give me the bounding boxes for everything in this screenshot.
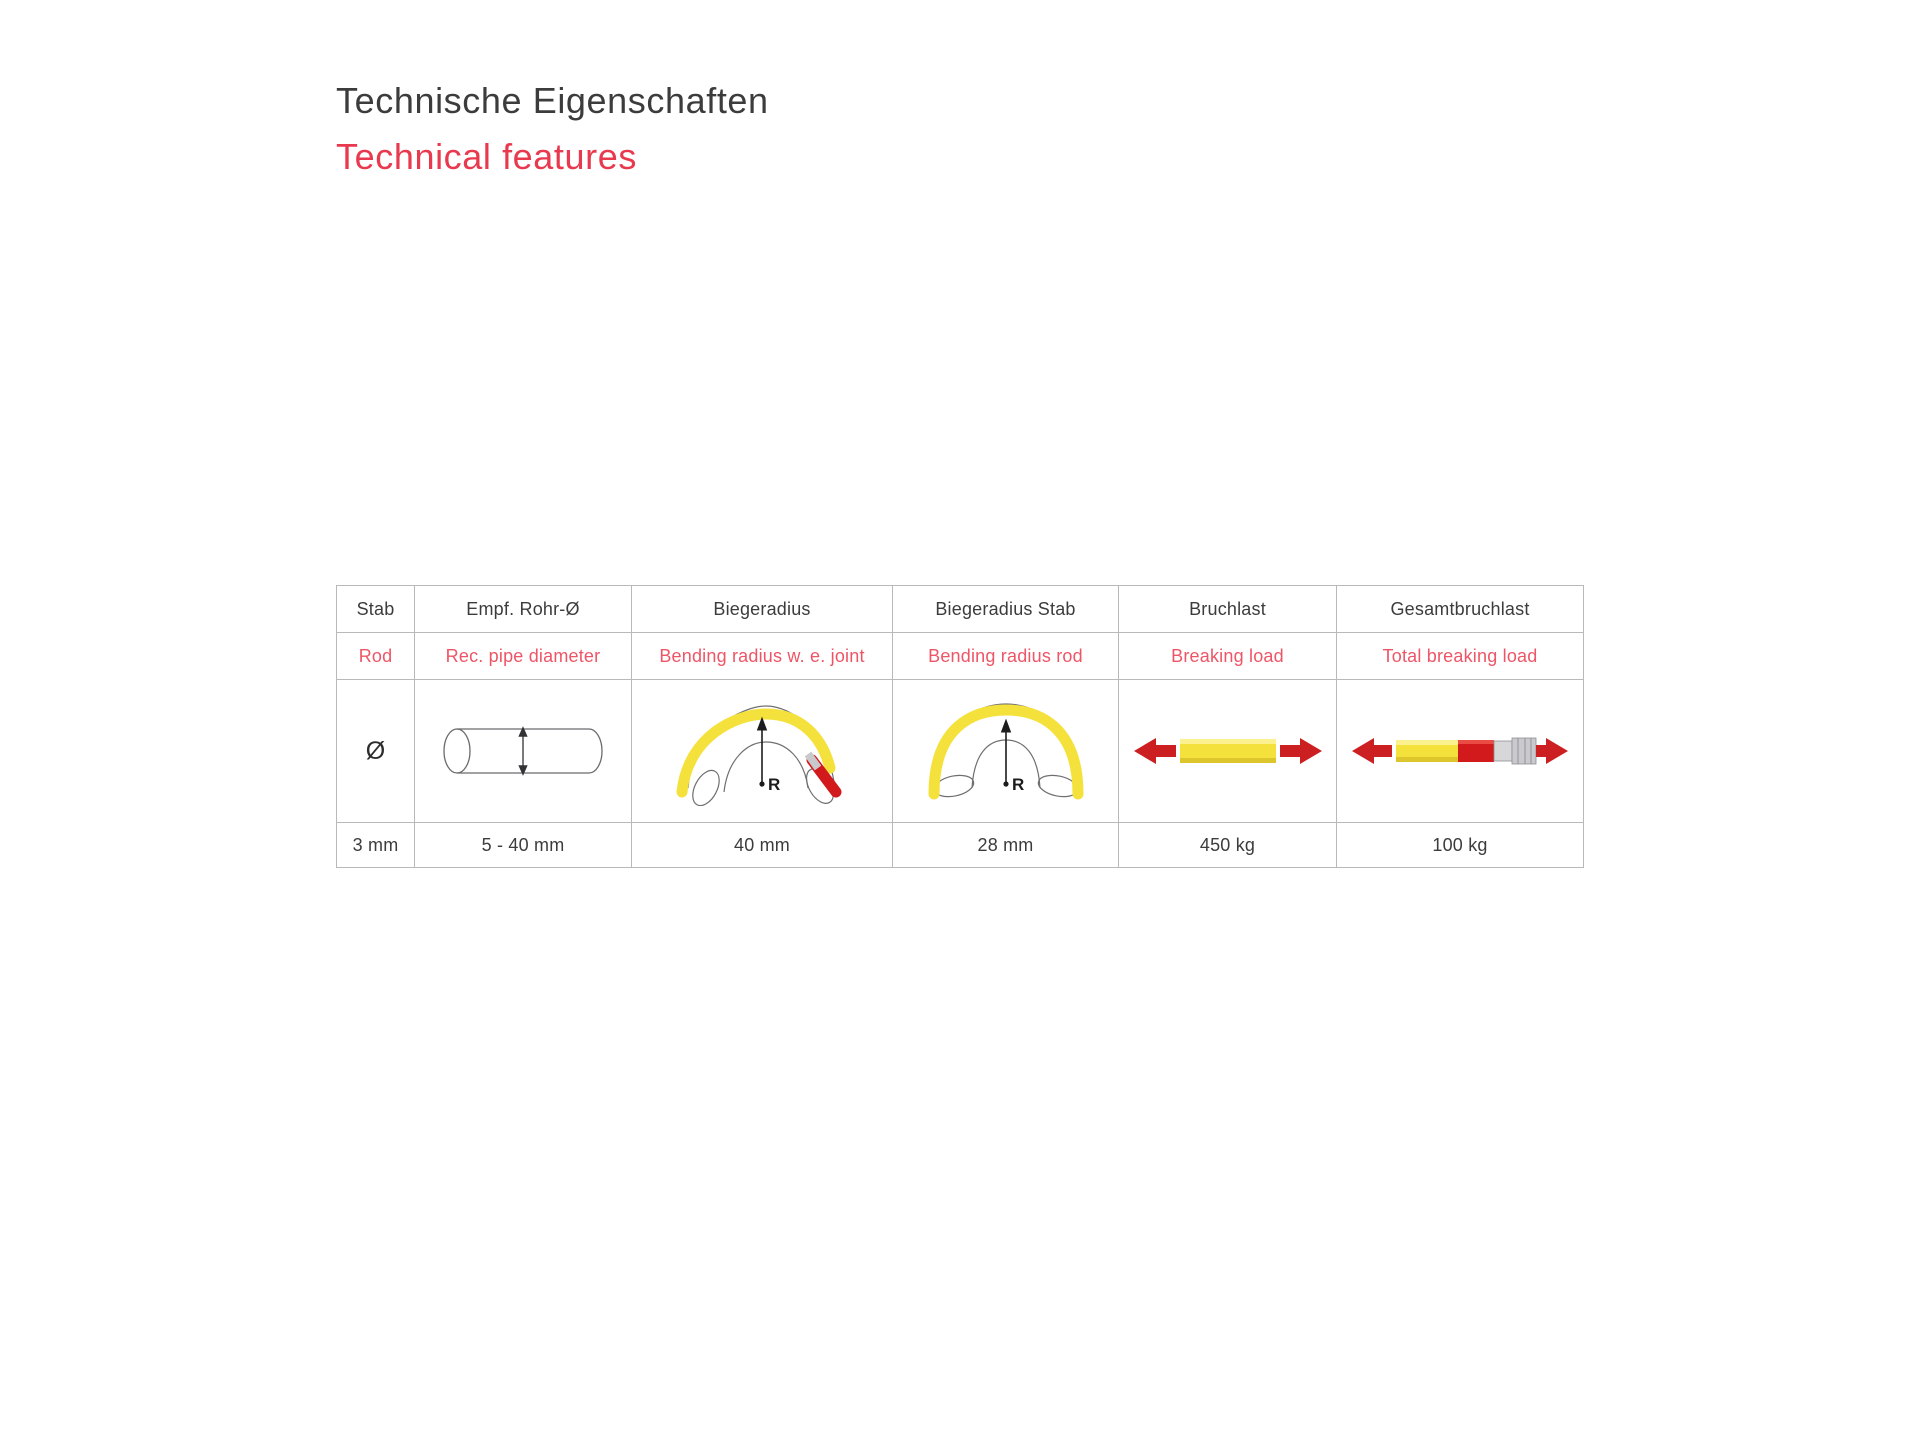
arrow-right-icon [1536, 738, 1568, 764]
header-de-biegeradius-stab: Biegeradius Stab [893, 586, 1119, 633]
header-de-rohr-durchmesser: Empf. Rohr-Ø [415, 586, 632, 633]
radius-label: R [768, 775, 780, 794]
arrow-left-icon [1134, 738, 1176, 764]
arrow-right-icon [1280, 738, 1322, 764]
table-row-illustrations: Ø [337, 680, 1584, 823]
table-row-values: 3 mm 5 - 40 mm 40 mm 28 mm 450 kg 100 kg [337, 823, 1584, 868]
bent-pipe-with-joint-icon: R [662, 696, 862, 806]
rod-tension-arrows-icon [1130, 721, 1326, 781]
header-de-stab: Stab [337, 586, 415, 633]
value-breaking-load: 450 kg [1119, 823, 1337, 868]
cell-total-breaking-load-diagram [1337, 680, 1584, 823]
header-en-bending-radius: Bending radius w. e. joint [632, 633, 893, 680]
header-en-breaking-load: Breaking load [1119, 633, 1337, 680]
technical-features-table: Stab Empf. Rohr-Ø Biegeradius Biegeradiu… [336, 585, 1584, 868]
yellow-rod-segment [1396, 740, 1458, 762]
cell-pipe-diagram [415, 680, 632, 823]
table-row-header-german: Stab Empf. Rohr-Ø Biegeradius Biegeradiu… [337, 586, 1584, 633]
table-row-header-english: Rod Rec. pipe diameter Bending radius w.… [337, 633, 1584, 680]
bent-rod-arch-icon: R [916, 696, 1096, 806]
diameter-symbol-icon: Ø [366, 739, 385, 764]
header-de-bruchlast: Bruchlast [1119, 586, 1337, 633]
header-en-pipe-diameter: Rec. pipe diameter [415, 633, 632, 680]
header-de-biegeradius: Biegeradius [632, 586, 893, 633]
header-de-gesamtbruchlast: Gesamtbruchlast [1337, 586, 1584, 633]
rod-with-connector-tension-arrows-icon [1348, 721, 1572, 781]
page-title-german: Technische Eigenschaften [336, 78, 769, 124]
value-rod-diameter: 3 mm [337, 823, 415, 868]
value-bending-radius: 40 mm [632, 823, 893, 868]
value-total-breaking-load: 100 kg [1337, 823, 1584, 868]
header-en-total-breaking-load: Total breaking load [1337, 633, 1584, 680]
page-title-block: Technische Eigenschaften Technical featu… [336, 78, 769, 180]
value-pipe-diameter: 5 - 40 mm [415, 823, 632, 868]
pipe-cylinder-icon [433, 705, 613, 797]
yellow-rod [1180, 739, 1276, 763]
header-en-bending-radius-rod: Bending radius rod [893, 633, 1119, 680]
cell-bending-radius-joint-diagram: R [632, 680, 893, 823]
cell-diameter-symbol: Ø [337, 680, 415, 823]
page-title-english: Technical features [336, 134, 769, 180]
radius-label: R [1012, 775, 1024, 794]
arrow-left-icon [1352, 738, 1392, 764]
metal-coupling-segment [1494, 738, 1536, 764]
value-bending-radius-rod: 28 mm [893, 823, 1119, 868]
cell-breaking-load-diagram [1119, 680, 1337, 823]
cell-bending-radius-rod-diagram: R [893, 680, 1119, 823]
header-en-rod: Rod [337, 633, 415, 680]
red-connector-segment [1458, 740, 1494, 762]
